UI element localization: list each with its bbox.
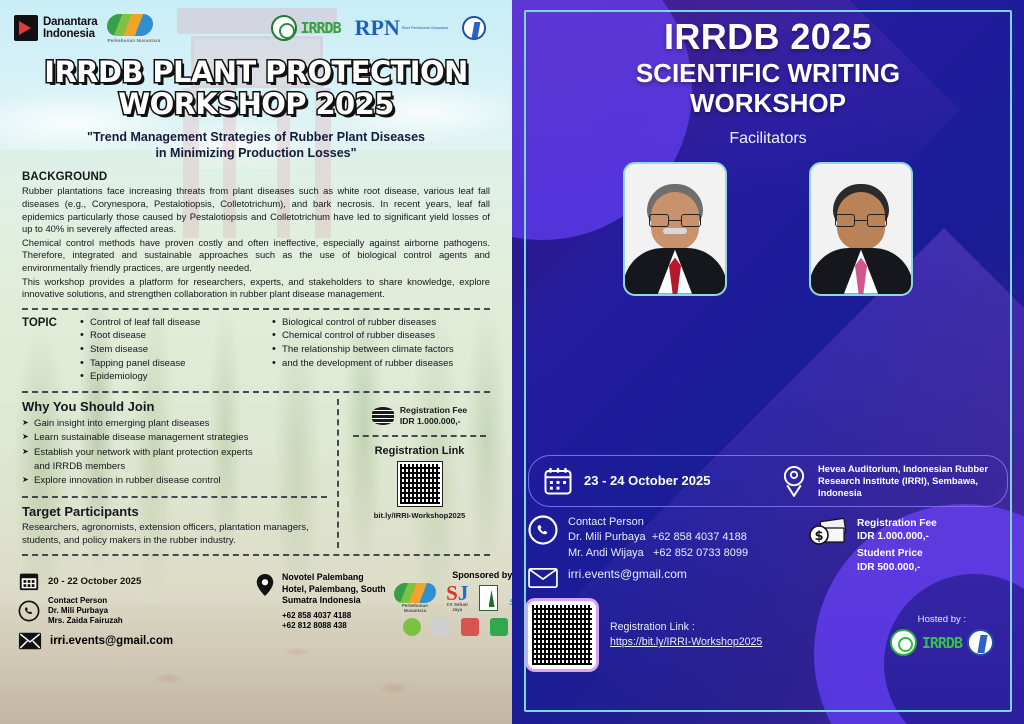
- topic-item: Epidemiology: [80, 370, 266, 384]
- right-registration-row: Registration Link : https://bit.ly/IRRI-…: [512, 595, 1024, 669]
- sponsor-forestry-logo: [479, 585, 499, 611]
- right-venue-text: Hevea Auditorium, Indonesian Rubber Rese…: [818, 463, 993, 499]
- irrdb-wordmark: IRRDB: [300, 19, 340, 37]
- rpn-logo-caption: Riset Perkebunan Nusantara: [402, 26, 448, 31]
- divider-reglink: [353, 435, 486, 437]
- ptpn-swoosh-icon: [105, 14, 156, 36]
- contact-name-2: Mrs. Zaida Fairuzah: [48, 616, 123, 626]
- facilitator-photo-1: [623, 162, 727, 296]
- perkebunan-nusantara-logo: Perkebunan Nusantara: [107, 14, 160, 43]
- background-paragraph-3: This workshop provides a platform for re…: [22, 276, 490, 301]
- topic-item: Chemical control of rubber diseases: [272, 329, 490, 343]
- whatsapp-icon: [528, 515, 558, 545]
- join-item: Explore innovation in rubber disease con…: [22, 474, 327, 488]
- right-page: IRRDB 2025 SCIENTIFIC WRITING WORKSHOP F…: [512, 0, 1024, 724]
- whatsapp-icon: [18, 600, 40, 622]
- right-title-line3: WORKSHOP: [540, 89, 996, 118]
- left-subtitle: "Trend Management Strategies of Rubber P…: [20, 129, 492, 162]
- right-title-line2: SCIENTIFIC WRITING: [540, 59, 996, 88]
- svg-text:$: $: [814, 529, 823, 544]
- rpn-wordmark: RPN: [355, 15, 400, 41]
- danantara-logo-line1: Danantara: [43, 16, 97, 28]
- left-title-line1: IRRDB PLANT PROTECTION: [0, 56, 512, 88]
- registration-qr-code[interactable]: [397, 461, 443, 507]
- envelope-icon: [528, 567, 558, 589]
- join-item: Establish your network with plant protec…: [22, 446, 327, 460]
- irrdb-logo: IRRDB: [271, 15, 340, 41]
- topic-label: TOPIC: [22, 316, 74, 384]
- left-top-logo-bar: Danantara Indonesia Perkebunan Nusantara…: [0, 0, 512, 50]
- right-contact-person-row: Contact Person Dr. Mili Purbaya +62 858 …: [528, 515, 802, 562]
- target-heading: Target Participants: [22, 504, 327, 519]
- sj-letter-s: S: [446, 581, 458, 605]
- right-date-text: 23 - 24 October 2025: [584, 473, 710, 488]
- left-date-text: 20 - 22 October 2025: [48, 576, 141, 587]
- sponsor-mini-logo-1: [403, 618, 421, 636]
- ptpn-logo-caption: Perkebunan Nusantara: [107, 38, 160, 43]
- venue-row: Novotel Palembang Hotel, Palembang, Sout…: [256, 572, 386, 607]
- date-row: 20 - 22 October 2025: [18, 570, 248, 592]
- sponsor-ptpn-logo: Perkebunan Nusantara: [394, 583, 436, 613]
- facilitator-photo-2: [809, 162, 913, 296]
- right-registration-qr-code[interactable]: [528, 601, 596, 669]
- sponsor-sehati-jaya-logo: SJ CV Sehati Jaya: [445, 584, 470, 613]
- right-reg-fee-label: Registration Fee: [857, 517, 937, 531]
- eyeglasses-icon: [649, 214, 701, 227]
- student-price-value: IDR 500.000,-: [857, 561, 937, 575]
- right-contact-name-2: Mr. Andi Wijaya: [568, 547, 644, 559]
- poster-spread: Danantara Indonesia Perkebunan Nusantara…: [0, 0, 1024, 724]
- right-reg-link-url[interactable]: https://bit.ly/IRRI-Workshop2025: [610, 636, 762, 648]
- sponsor-row-primary: Perkebunan Nusantara SJ CV Sehati Jaya B…: [394, 583, 512, 613]
- money-icon: $: [808, 517, 848, 547]
- left-subtitle-line1: "Trend Management Strategies of Rubber P…: [20, 129, 492, 145]
- sponsors-section: Sponsored by : Perkebunan Nusantara SJ C…: [394, 570, 512, 655]
- sponsor-mini-logo-4: [490, 618, 508, 636]
- irrdb-seal-icon: [271, 15, 297, 41]
- right-contact-block: Contact Person Dr. Mili Purbaya +62 858 …: [512, 507, 1024, 596]
- topic-item: Tapping panel disease: [80, 357, 266, 371]
- sponsor-ptpn-caption: Perkebunan Nusantara: [394, 603, 436, 613]
- join-heading: Why You Should Join: [22, 399, 327, 414]
- irrdb-seal-icon: [890, 629, 917, 656]
- facilitator-photos: [540, 162, 996, 296]
- topic-item: Root disease: [80, 329, 266, 343]
- right-email-row: irri.events@gmail.com: [528, 567, 802, 589]
- registration-bitly-text[interactable]: bit.ly/IRRI-Workshop2025: [349, 511, 490, 520]
- facilitators-label: Facilitators: [540, 130, 996, 148]
- registration-panel: Registration Fee IDR 1.000.000,- Registr…: [349, 399, 490, 548]
- right-contact-name-1: Dr. Mili Purbaya: [568, 531, 646, 543]
- sponsor-mini-logo-3: [461, 618, 479, 636]
- contact-person-label: Contact Person: [48, 596, 123, 606]
- danantara-logo: Danantara Indonesia: [14, 15, 97, 41]
- topic-item: The relationship between climate factors: [272, 343, 490, 357]
- topic-column-2: Biological control of rubber diseases Ch…: [272, 316, 490, 384]
- right-contact-person-label: Contact Person: [568, 515, 748, 531]
- target-text: Researchers, agronomists, extension offi…: [22, 521, 327, 548]
- right-title-line1: IRRDB 2025: [540, 18, 996, 55]
- contact-phone-1: +62 858 4037 4188: [282, 611, 386, 621]
- sponsored-by-label: Sponsored by :: [394, 570, 512, 580]
- right-contact-phone-2: +62 852 0733 8099: [653, 547, 748, 559]
- envelope-icon: [18, 631, 42, 651]
- right-contact-phone-1: +62 858 4037 4188: [652, 531, 747, 543]
- sponsor-sj-caption: CV Sehati Jaya: [445, 602, 470, 612]
- location-pin-icon: [256, 572, 274, 596]
- sj-letter-j: J: [458, 581, 469, 605]
- left-page: Danantara Indonesia Perkebunan Nusantara…: [0, 0, 512, 724]
- hosted-by-block: Hosted by : IRRDB: [890, 614, 1008, 656]
- topic-item: Control of leaf fall disease: [80, 316, 266, 330]
- danantara-logo-line2: Indonesia: [43, 28, 97, 40]
- registration-fee-label: Registration Fee: [400, 405, 467, 416]
- left-contact-block: 20 - 22 October 2025 Contact Person Dr. …: [0, 562, 512, 655]
- right-fee-block: $ Registration Fee IDR 1.000.000,- Stude…: [808, 515, 1008, 596]
- topic-column-1: Control of leaf fall disease Root diseas…: [80, 316, 266, 384]
- divider-join: [22, 391, 490, 393]
- email-row: irri.events@gmail.com: [18, 631, 248, 651]
- join-and-fee-section: Why You Should Join Gain insight into em…: [22, 399, 490, 548]
- right-reg-link-label: Registration Link :: [610, 620, 762, 636]
- date-venue-box: 23 - 24 October 2025 Hevea Auditorium, I…: [528, 455, 1008, 507]
- registration-fee-block: Registration Fee IDR 1.000.000,-: [349, 405, 490, 427]
- join-item-continuation: and IRRDB members: [22, 460, 327, 474]
- registration-fee-value: IDR 1.000.000,-: [400, 416, 467, 427]
- divider-contact: [22, 554, 490, 556]
- vertical-divider: [337, 399, 339, 548]
- contact-phone-2: +62 812 8088 438: [282, 621, 386, 631]
- left-title-block: IRRDB PLANT PROTECTION WORKSHOP 2025: [0, 56, 512, 121]
- left-email-text[interactable]: irri.events@gmail.com: [50, 635, 173, 647]
- contact-name-1: Dr. Mili Purbaya: [48, 606, 123, 616]
- left-venue-text: Novotel Palembang Hotel, Palembang, Sout…: [282, 572, 386, 607]
- contact-person-row: Contact Person Dr. Mili Purbaya Mrs. Zai…: [18, 596, 248, 627]
- topic-item: Biological control of rubber diseases: [272, 316, 490, 330]
- left-subtitle-line2: in Minimizing Production Losses": [20, 145, 492, 161]
- hosted-irrdb-wordmark: IRRDB: [922, 634, 962, 652]
- left-title-line2: WORKSHOP 2025: [0, 88, 512, 120]
- background-paragraph-1: Rubber plantations face increasing threa…: [22, 185, 490, 235]
- background-paragraph-2: Chemical control methods have proven cos…: [22, 237, 490, 275]
- topic-item-continuation: and the development of rubber diseases: [272, 357, 490, 371]
- join-item: Learn sustainable disease management str…: [22, 431, 327, 445]
- registration-link-label: Registration Link: [349, 445, 490, 457]
- right-reg-fee-value: IDR 1.000.000,-: [857, 530, 937, 544]
- sponsor-row-secondary: [394, 618, 512, 636]
- divider-target: [22, 496, 327, 498]
- rpn-logo: RPN Riset Perkebunan Nusantara: [355, 15, 448, 41]
- calendar-icon: [543, 466, 573, 496]
- irri-logo-icon: [967, 629, 994, 656]
- sponsor-mini-logo-2: [432, 618, 450, 636]
- join-item: Gain insight into emerging plant disease…: [22, 417, 327, 431]
- join-list: Gain insight into emerging plant disease…: [22, 417, 327, 489]
- coins-icon: [372, 407, 394, 425]
- background-heading: BACKGROUND: [22, 171, 490, 183]
- divider-topic: [22, 308, 490, 310]
- location-pin-icon: [779, 465, 809, 497]
- irri-logo-icon: [462, 16, 486, 40]
- student-price-label: Student Price: [857, 547, 937, 561]
- hosted-by-label: Hosted by :: [890, 614, 994, 625]
- topic-item: Stem disease: [80, 343, 266, 357]
- calendar-icon: [18, 570, 40, 592]
- eyeglasses-icon: [835, 214, 887, 227]
- right-email-text[interactable]: irri.events@gmail.com: [568, 567, 687, 581]
- left-right-logo-group: IRRDB RPN Riset Perkebunan Nusantara: [271, 15, 500, 41]
- topic-section: TOPIC Control of leaf fall disease Root …: [22, 316, 490, 384]
- danantara-mark-icon: [14, 15, 38, 41]
